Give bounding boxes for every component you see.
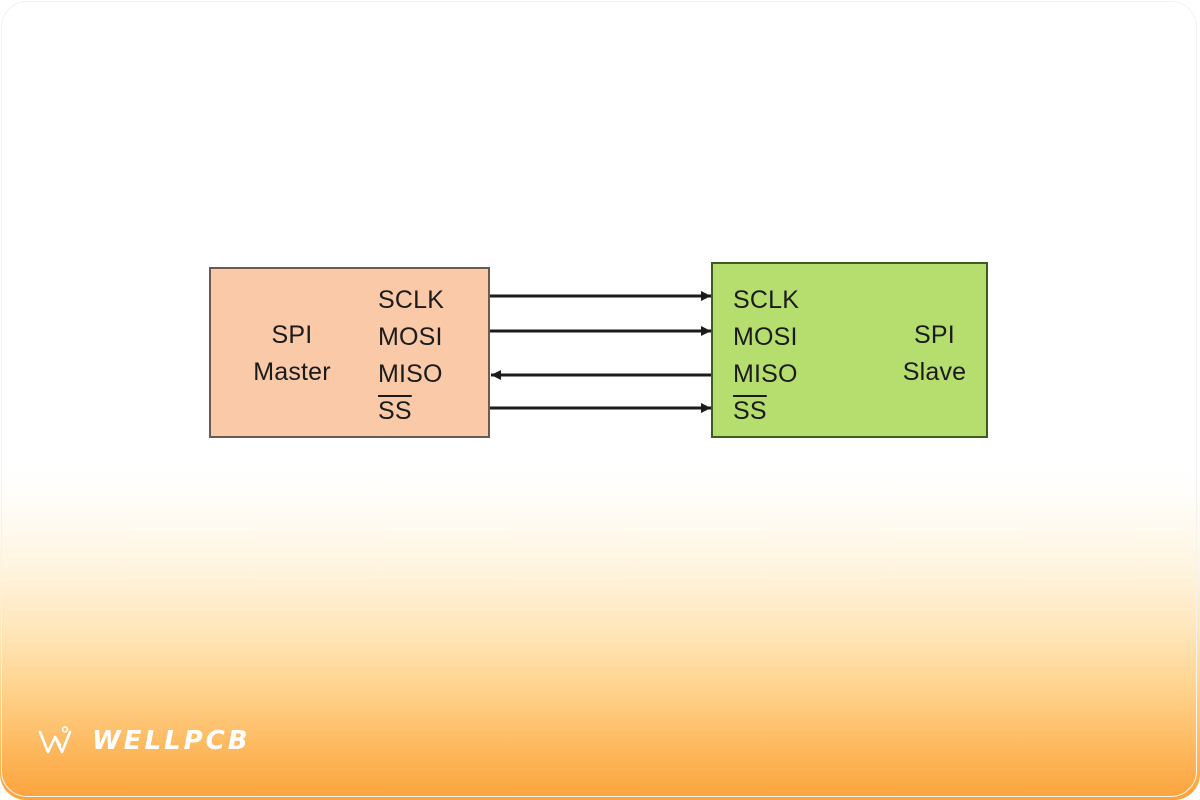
- pin-sclk-slave: SCLK: [733, 282, 799, 319]
- spi-slave-title: SPI Slave: [862, 317, 1007, 391]
- pin-miso-slave: MISO: [733, 356, 799, 393]
- pin-sclk-master: SCLK: [378, 282, 444, 319]
- wellpcb-logo: WELLPCB: [36, 724, 251, 758]
- spi-master-title: SPI Master: [218, 317, 366, 391]
- pin-miso-master: MISO: [378, 356, 444, 393]
- spi-block-diagram: SPI Master SCLK MOSI MISO SS SPI Slave S…: [0, 0, 1200, 800]
- wellpcb-w-mark-icon: [36, 724, 82, 758]
- pin-ss-master: SS: [378, 393, 444, 430]
- connection-wires: [0, 0, 1200, 800]
- pin-mosi-slave: MOSI: [733, 319, 799, 356]
- wellpcb-wordmark: WELLPCB: [92, 726, 251, 756]
- pin-mosi-master: MOSI: [378, 319, 444, 356]
- pin-ss-slave: SS: [733, 393, 799, 430]
- spi-slave-pin-list: SCLK MOSI MISO SS: [733, 282, 799, 430]
- spi-master-pin-list: SCLK MOSI MISO SS: [378, 282, 444, 430]
- screenshot-canvas: SPI Master SCLK MOSI MISO SS SPI Slave S…: [0, 0, 1200, 800]
